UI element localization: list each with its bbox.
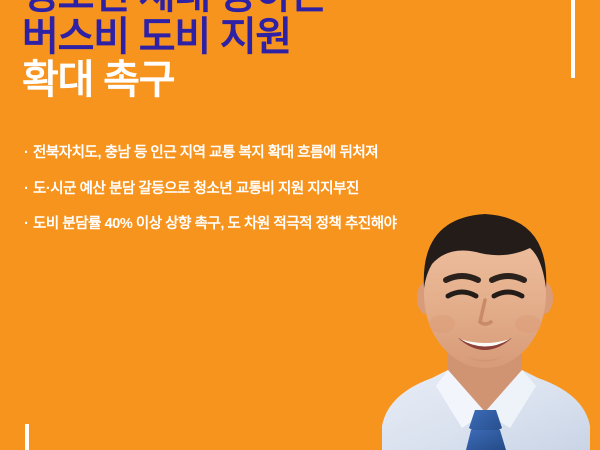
top-right-accent-rule [571, 0, 575, 78]
headline-line-3: 확대 촉구 [22, 59, 562, 101]
list-item: ·도비 분담률 40% 이상 상향 촉구, 도 차원 적극적 정책 추진해야 [24, 217, 397, 232]
bottom-left-accent-rule [25, 424, 29, 450]
bullet-list: ·전북자치도, 충남 등 인근 지역 교통 복지 확대 흐름에 뒤처져 ·도·시… [24, 146, 397, 253]
bullet-dot-icon: · [24, 182, 33, 197]
poster-canvas: 청소년 세대 응하는 버스비 도비 지원 확대 촉구 ·전북자치도, 충남 등 … [0, 0, 600, 450]
bullet-text: 도·시군 예산 분담 갈등으로 청소년 교통비 지원 지지부진 [33, 181, 359, 197]
list-item: ·전북자치도, 충남 등 인근 지역 교통 복지 확대 흐름에 뒤처져 [24, 146, 397, 161]
cheek-right [515, 315, 541, 333]
cheek-left [429, 315, 455, 333]
portrait-photo [370, 180, 600, 450]
list-item: ·도·시군 예산 분담 갈등으로 청소년 교통비 지원 지지부진 [24, 182, 397, 197]
bullet-text: 전북자치도, 충남 등 인근 지역 교통 복지 확대 흐름에 뒤처져 [33, 145, 378, 161]
bullet-text: 도비 분담률 40% 이상 상향 촉구, 도 차원 적극적 정책 추진해야 [33, 216, 397, 232]
headline-line-1: 청소년 세대 응하는 [22, 0, 562, 16]
headline-block: 청소년 세대 응하는 버스비 도비 지원 확대 촉구 [22, 0, 562, 101]
bullet-dot-icon: · [24, 217, 33, 232]
tie-body [466, 430, 506, 450]
headline-line-2: 버스비 도비 지원 [22, 16, 562, 58]
portrait-illustration [370, 180, 600, 450]
bullet-dot-icon: · [24, 146, 33, 161]
